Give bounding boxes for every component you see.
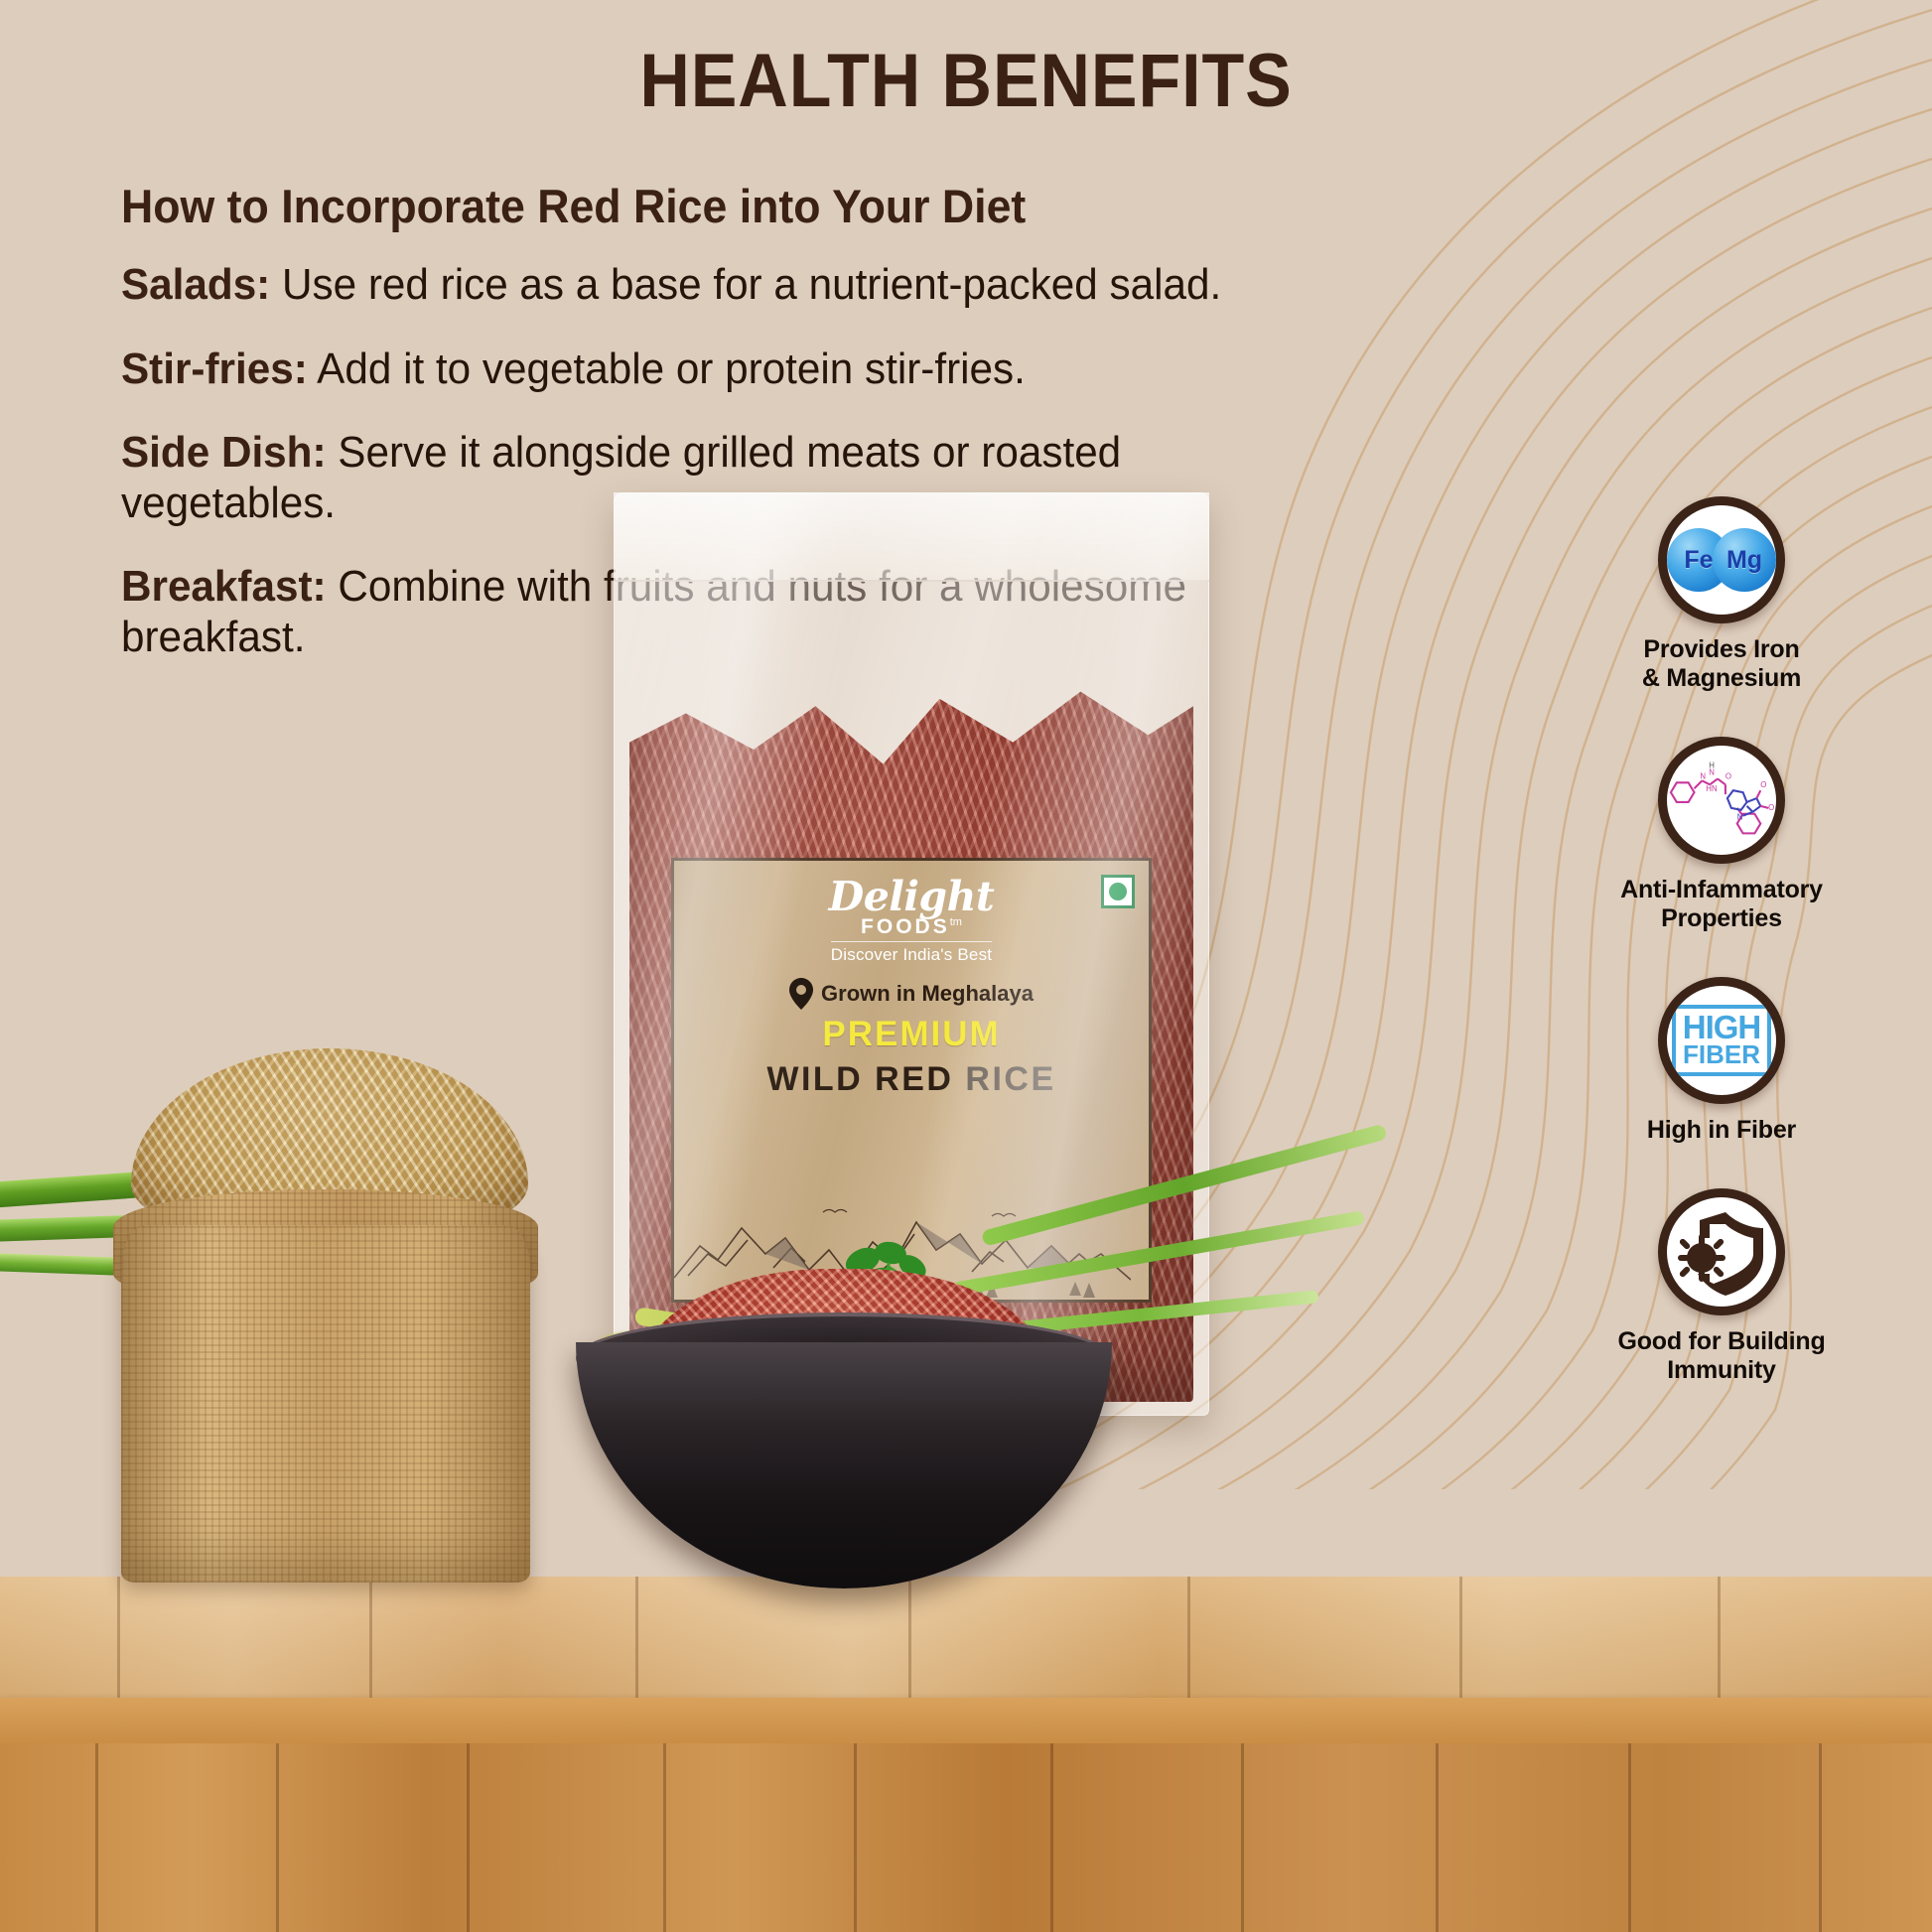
vegetarian-mark-icon (1101, 875, 1135, 908)
svg-text:N: N (1700, 771, 1706, 780)
magnesium-symbol: Mg (1713, 528, 1776, 592)
svg-text:H: H (1709, 761, 1715, 770)
badge-label: High in Fiber (1573, 1116, 1870, 1145)
black-bowl-cooked-red-rice (576, 1307, 1112, 1604)
iron-magnesium-icon: Fe Mg (1658, 496, 1785, 623)
badge-iron-magnesium: Fe Mg Provides Iron & Magnesium (1573, 496, 1870, 693)
tip-text: Add it to vegetable or protein stir-frie… (308, 345, 1026, 393)
product-name-part2: RICE (965, 1060, 1055, 1098)
svg-text:N: N (1737, 813, 1743, 822)
badge-label-line: Immunity (1573, 1356, 1870, 1385)
badge-label-line: High in Fiber (1573, 1116, 1870, 1145)
sack-body (121, 1225, 530, 1583)
badge-label: Anti-Infammatory Properties (1573, 876, 1870, 933)
tip-lead: Breakfast: (121, 562, 327, 611)
page-subtitle: How to Incorporate Red Rice into Your Di… (121, 179, 1026, 233)
badge-label: Provides Iron & Magnesium (1573, 635, 1870, 693)
badge-immunity: Good for Building Immunity (1573, 1188, 1870, 1385)
product-name-part1: WILD RED (766, 1060, 953, 1098)
brand-tagline: Discover India's Best (831, 941, 992, 965)
svg-text:O: O (1725, 771, 1731, 780)
benefit-badges: Fe Mg Provides Iron & Magnesium (1573, 496, 1870, 1429)
origin-text: Grown in Meghalaya (821, 981, 1034, 1007)
badge-label-line: Good for Building (1573, 1327, 1870, 1356)
jute-sack-with-paddy (107, 1106, 544, 1583)
brand-subname: FOODStm (861, 915, 962, 938)
table-edge (0, 1698, 1932, 1743)
brand-subname-text: FOODS (861, 915, 950, 938)
fiber-stamp-line2: FIBER (1683, 1042, 1761, 1067)
table-front-planks (0, 1743, 1932, 1932)
svg-text:O: O (1768, 803, 1774, 812)
product-name: WILD RED RICE (694, 1060, 1129, 1099)
premium-text: PREMIUM (694, 1015, 1129, 1054)
infographic-canvas: HEALTH BENEFITS How to Incorporate Red R… (0, 0, 1932, 1932)
fiber-stamp-line1: HIGH (1683, 1012, 1761, 1042)
product-label: Delight FOODStm Discover India's Best Gr… (671, 858, 1152, 1303)
page-title: HEALTH BENEFITS (77, 38, 1855, 124)
tip-lead: Stir-fries: (121, 345, 308, 393)
badge-anti-inflammatory: N N H HN O O O N Anti-Infammatory Proper… (1573, 737, 1870, 933)
tip-lead: Side Dish: (121, 428, 327, 477)
pouch-top-seal (614, 492, 1209, 582)
shield-virus-icon (1658, 1188, 1785, 1315)
badge-label-line: Properties (1573, 904, 1870, 933)
badge-label: Good for Building Immunity (1573, 1327, 1870, 1385)
tip-text: Use red rice as a base for a nutrient-pa… (270, 260, 1221, 309)
molecule-icon: N N H HN O O O N (1658, 737, 1785, 864)
brand-name: Delight (694, 877, 1129, 917)
tip-lead: Salads: (121, 260, 270, 309)
badge-label-line: Provides Iron (1573, 635, 1870, 664)
tip-item: Salads: Use red rice as a base for a nut… (121, 260, 1279, 311)
badge-high-fiber: HIGH FIBER High in Fiber (1573, 977, 1870, 1145)
shield-with-virus (1668, 1200, 1775, 1304)
tip-item: Stir-fries: Add it to vegetable or prote… (121, 345, 1279, 395)
high-fiber-stamp-icon: HIGH FIBER (1658, 977, 1785, 1104)
svg-text:O: O (1760, 780, 1766, 789)
badge-label-line: Anti-Infammatory (1573, 876, 1870, 904)
badge-label-line: & Magnesium (1573, 664, 1870, 693)
svg-text:HN: HN (1706, 784, 1718, 793)
bowl-body (576, 1342, 1112, 1588)
origin-row: Grown in Meghalaya (694, 978, 1129, 1010)
trademark-mark: tm (950, 916, 962, 928)
molecule-structure: N N H HN O O O N (1667, 759, 1776, 842)
location-pin-icon (789, 978, 813, 1010)
